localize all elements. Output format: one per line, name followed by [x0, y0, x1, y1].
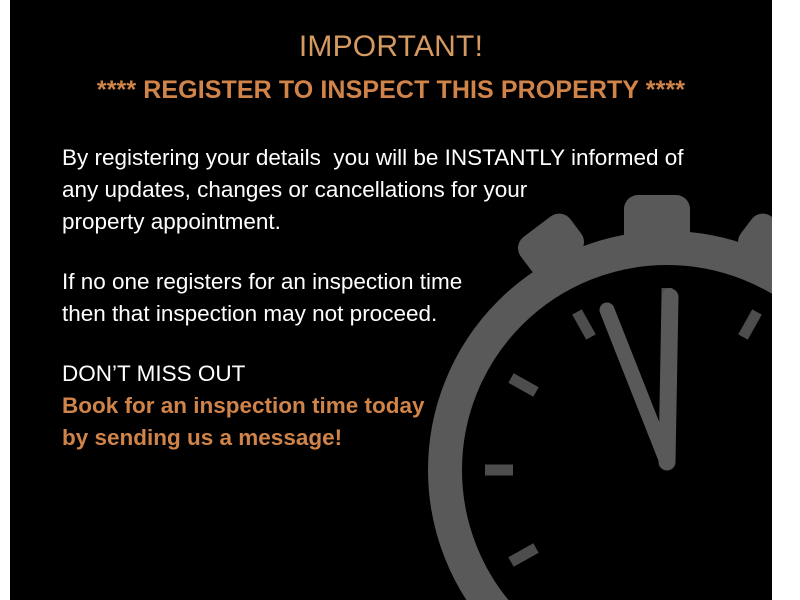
body-copy: By registering your details you will be … — [62, 142, 742, 454]
headline-register: **** REGISTER TO INSPECT THIS PROPERTY *… — [10, 76, 772, 105]
headline-important: IMPORTANT! — [10, 30, 772, 64]
slide-canvas: IMPORTANT! **** REGISTER TO INSPECT THIS… — [0, 0, 800, 600]
paragraph-registering-benefits: By registering your details you will be … — [62, 142, 742, 238]
cta-send-message: by sending us a message! — [62, 422, 742, 454]
cta-dont-miss-out: DON’T MISS OUT — [62, 358, 742, 390]
paragraph-no-registration-warning: If no one registers for an inspection ti… — [62, 266, 742, 330]
text-layer: IMPORTANT! **** REGISTER TO INSPECT THIS… — [10, 0, 772, 600]
cta-book-inspection: Book for an inspection time today — [62, 390, 742, 422]
poster-panel: IMPORTANT! **** REGISTER TO INSPECT THIS… — [10, 0, 772, 600]
cta-spacer — [62, 330, 742, 358]
